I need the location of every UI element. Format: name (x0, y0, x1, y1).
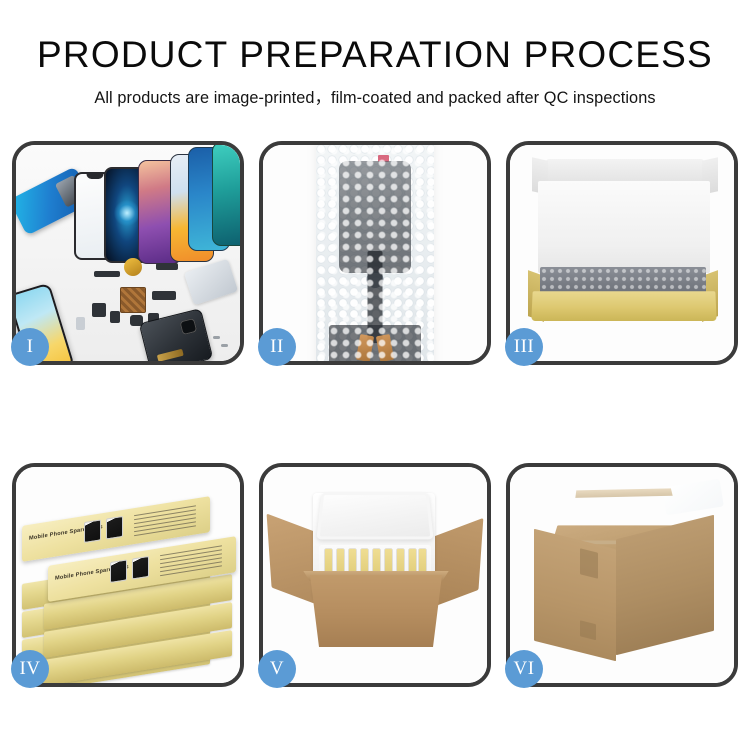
process-step-panel-4[interactable]: Mobile Phone Spare Parts Mobile Phone Sp… (12, 463, 244, 687)
step-badge-5: V (258, 650, 296, 688)
foam-backing-sheet (538, 181, 710, 273)
part-bracket-b (110, 311, 120, 323)
step-badge-4: IV (11, 650, 49, 688)
part-flex-cable-a (156, 263, 178, 270)
photo-carton-with-foam-insert (263, 467, 487, 683)
panel-photo-4: Mobile Phone Spare Parts Mobile Phone Sp… (16, 467, 240, 683)
part-sim-tray (76, 317, 85, 330)
part-screw-b (221, 344, 228, 347)
carton-right-face (616, 515, 714, 655)
carton-left-face (534, 529, 616, 661)
panel-photo-5 (263, 467, 487, 683)
carton-sealing-tape (575, 488, 672, 497)
lcd-bottom-components (329, 325, 421, 361)
part-screw-a (213, 336, 220, 339)
photo-lcd-in-bubble-wrap (263, 145, 487, 361)
repair-tool (184, 259, 238, 306)
step-badge-2: II (258, 328, 296, 366)
step-badge-6: VI (505, 650, 543, 688)
bubble-wrap-bag (316, 145, 434, 361)
box-stack: Mobile Phone Spare Parts Mobile Phone Sp… (22, 485, 238, 671)
process-step-panel-3[interactable]: III (506, 141, 738, 365)
panel-photo-2 (263, 145, 487, 361)
part-speaker-gold (124, 258, 142, 276)
panel-photo-6 (510, 467, 734, 683)
carton-body (301, 575, 451, 647)
box-label-phone-image-a (84, 519, 101, 543)
page-title: PRODUCT PREPARATION PROCESS (0, 36, 750, 75)
page-subtitle: All products are image-printed，film-coat… (0, 84, 750, 108)
phone-screen-green (212, 145, 240, 246)
header: PRODUCT PREPARATION PROCESS All products… (0, 0, 750, 108)
box-label-phone-image-c (110, 559, 127, 583)
process-step-panel-6[interactable]: VI (506, 463, 738, 687)
part-bracket-a (92, 303, 106, 317)
step-badge-1: I (11, 328, 49, 366)
shipping-carton (524, 491, 720, 659)
box-front-panel (531, 291, 716, 321)
step-badge-3: III (505, 328, 543, 366)
panel-photo-3 (510, 145, 734, 361)
process-step-panel-2[interactable]: II (259, 141, 491, 365)
box-label-spec-lines-second (160, 545, 222, 579)
box-label-phone-image-d (132, 556, 149, 580)
part-flex-cable-b (152, 291, 176, 300)
photo-stacked-retail-boxes: Mobile Phone Spare Parts Mobile Phone Sp… (16, 467, 240, 683)
photo-open-box-with-foam (510, 145, 734, 361)
box-label-phone-image-b (106, 516, 123, 540)
panel-photo-1 (16, 145, 240, 361)
foam-case-lid (316, 493, 433, 540)
photo-phone-parts-assortment (16, 145, 240, 361)
product-preparation-infographic: PRODUCT PREPARATION PROCESS All products… (0, 0, 750, 750)
process-step-panel-1[interactable]: I (12, 141, 244, 365)
process-step-panel-5[interactable]: V (259, 463, 491, 687)
part-logic-board (120, 287, 146, 313)
photo-sealed-shipping-carton (510, 467, 734, 683)
box-label-spec-lines-top (134, 505, 196, 539)
carton-wrap-film (662, 479, 724, 516)
part-flex-strip (94, 271, 120, 277)
process-step-grid: I II (12, 141, 738, 687)
